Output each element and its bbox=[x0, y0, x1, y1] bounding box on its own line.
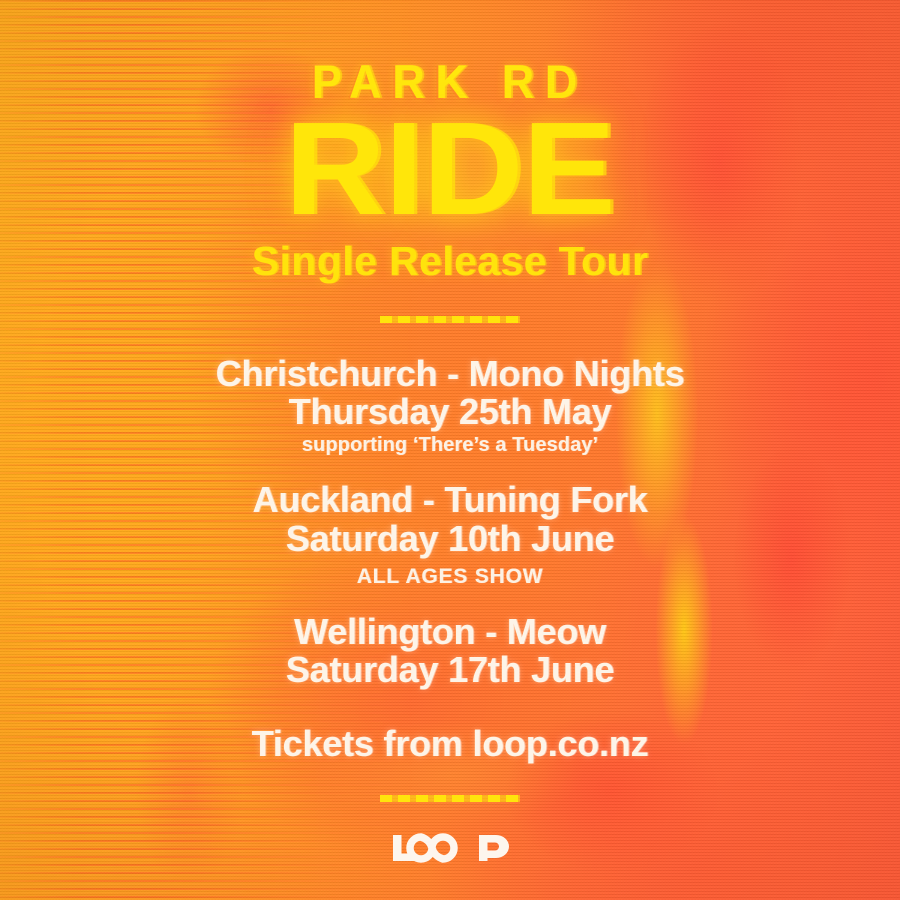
show-venue: Christchurch - Mono Nights bbox=[0, 355, 900, 393]
poster-content: PARK RD RIDE Single Release Tour Christc… bbox=[0, 0, 900, 900]
list-item: Christchurch - Mono Nights Thursday 25th… bbox=[0, 355, 900, 457]
list-item: Wellington - Meow Saturday 17th June bbox=[0, 613, 900, 689]
wavy-divider-icon-bottom bbox=[380, 795, 520, 802]
loop-logo[interactable] bbox=[391, 832, 509, 864]
show-venue: Auckland - Tuning Fork bbox=[0, 481, 900, 519]
show-list: Christchurch - Mono Nights Thursday 25th… bbox=[0, 355, 900, 689]
show-note: supporting ‘There’s a Tuesday’ bbox=[0, 434, 900, 457]
show-date: Thursday 25th May bbox=[0, 393, 900, 431]
show-venue: Wellington - Meow bbox=[0, 613, 900, 651]
show-date: Saturday 17th June bbox=[0, 651, 900, 689]
tickets-link[interactable]: Tickets from loop.co.nz bbox=[252, 723, 649, 765]
show-note: ALL AGES SHOW bbox=[0, 565, 900, 589]
tour-poster: PARK RD RIDE Single Release Tour Christc… bbox=[0, 0, 900, 900]
tour-subtitle: Single Release Tour bbox=[252, 241, 648, 282]
loop-infinity-logo-icon bbox=[391, 832, 509, 864]
wavy-divider-icon-top bbox=[380, 316, 520, 323]
list-item: Auckland - Tuning Fork Saturday 10th Jun… bbox=[0, 481, 900, 588]
show-date: Saturday 10th June bbox=[0, 520, 900, 558]
single-title: RIDE bbox=[285, 111, 615, 227]
